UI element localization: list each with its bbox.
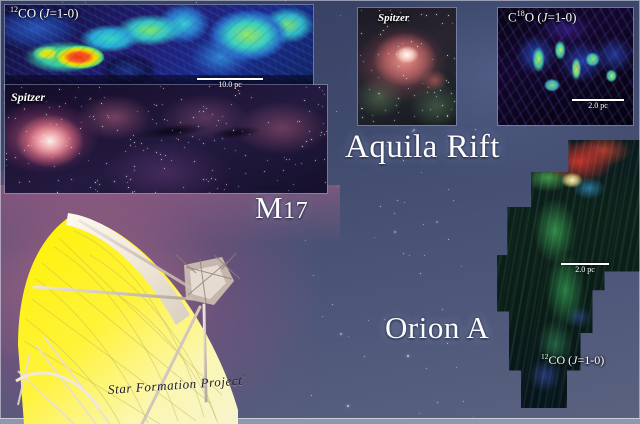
title-m17: M17 <box>255 190 308 226</box>
panel-m17-spitzer[interactable] <box>5 85 327 193</box>
star-specks <box>5 85 327 193</box>
transition-text: =1-0) <box>49 5 78 20</box>
label-orion-co: 12CO (J=1-0) <box>541 352 604 368</box>
transition-text: =1-0) <box>547 9 576 24</box>
label-m17-spitzer: Spitzer <box>11 90 45 105</box>
title-aquila-rift: Aquila Rift <box>345 129 500 166</box>
scalebar-orion-2pc: 2.0 pc <box>561 263 609 275</box>
scalebar-label: 2.0 pc <box>572 101 624 111</box>
co-text: CO ( <box>548 353 572 367</box>
project-signature-mark: ° <box>242 373 246 381</box>
superscript-12: 12 <box>10 5 18 14</box>
label-aquila-spitzer: Spitzer <box>378 12 409 24</box>
title-m17-number: 17 <box>283 197 308 224</box>
o-text: O ( <box>525 9 542 24</box>
scalebar-label: 2.0 pc <box>561 265 609 275</box>
c-text: C <box>508 9 517 24</box>
co-text: CO ( <box>18 5 44 20</box>
label-aquila-c18o: C18O (J=1-0) <box>508 9 576 25</box>
title-m17-letter: M <box>255 190 283 225</box>
superscript-18: 18 <box>517 9 525 18</box>
label-m17-co: 12CO (J=1-0) <box>10 5 78 21</box>
panel-aquila-spitzer[interactable] <box>358 8 456 125</box>
title-orion-a: Orion A <box>385 310 489 346</box>
scalebar-label: 10.0 pc <box>197 80 263 90</box>
transition-text: =1-0) <box>577 353 604 367</box>
scalebar-m17-10pc: 10.0 pc <box>197 78 263 90</box>
poster-canvas: 12CO (J=1-0) 10.0 pc Spitzer Spitzer C18… <box>0 0 640 424</box>
scalebar-aquila-2pc: 2.0 pc <box>572 99 624 111</box>
